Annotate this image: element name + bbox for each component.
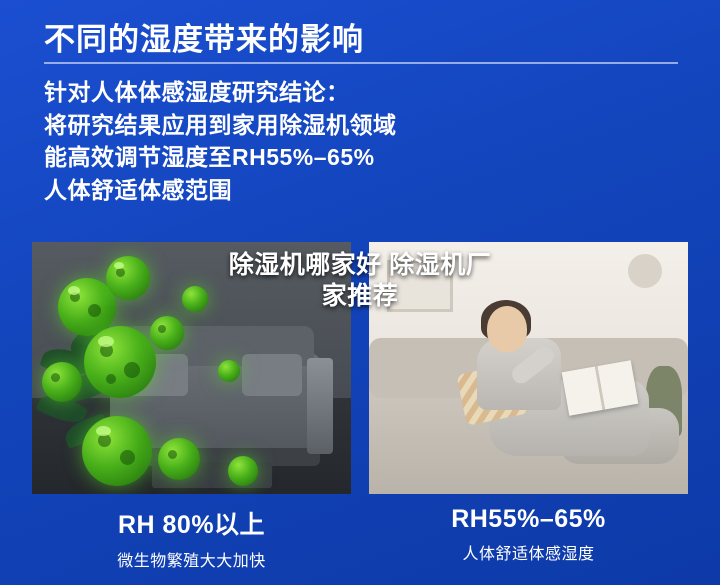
poster-inner: 不同的湿度带来的影响 针对人体体感湿度研究结论： 将研究结果应用到家用除湿机领域… [0,0,720,585]
poster-root: 不同的湿度带来的影响 针对人体体感湿度研究结论： 将研究结果应用到家用除湿机领域… [0,0,720,585]
photo-row: 除湿机哪家好 除湿机厂 家推荐 [32,242,688,494]
mold-blob-6 [182,286,208,312]
mold-blob-3 [84,326,156,398]
mold-blob-9 [228,456,258,486]
high-humidity-photo [32,242,351,494]
room-lamp [307,358,333,454]
wall-picture-frame [387,260,453,312]
comfort-humidity-photo [369,242,688,494]
bullet-line-1: 针对人体体感湿度研究结论： [44,76,684,109]
bright-living-room-scene [369,242,688,494]
bullet-list: 针对人体体感湿度研究结论： 将研究结果应用到家用除湿机领域 能高效调节湿度至RH… [44,76,684,207]
room2-lamp [628,254,662,288]
bullet-line-2: 将研究结果应用到家用除湿机领域 [44,109,684,142]
caption-high-sub: 微生物繁殖大大加快 [32,547,351,571]
caption-comfort-humidity: RH55%–65% 人体舒适体感湿度 [369,505,688,571]
caption-comfort-sub: 人体舒适体感湿度 [369,540,688,564]
caption-high-humidity: RH 80%以上 微生物繁殖大大加快 [32,505,351,571]
mold-blob-8 [158,438,200,480]
mold-blob-2 [106,256,150,300]
mold-blob-5 [150,316,184,350]
caption-row: RH 80%以上 微生物繁殖大大加快 RH55%–65% 人体舒适体感湿度 [32,505,688,571]
bullet-line-4: 人体舒适体感范围 [44,174,684,207]
room-cushion-right [242,354,302,396]
bullet-line-3: 能高效调节湿度至RH55%–65% [44,141,684,174]
mold-blob-4 [42,362,82,402]
title-divider [44,62,678,64]
mold-blob-7 [82,416,152,486]
caption-comfort-title: RH55%–65% [369,505,688,534]
mold-blob-10 [218,360,240,382]
woman-head [487,306,527,352]
dark-living-room-scene [32,242,351,494]
caption-high-title: RH 80%以上 [32,505,351,541]
page-title: 不同的湿度带来的影响 [44,14,364,59]
